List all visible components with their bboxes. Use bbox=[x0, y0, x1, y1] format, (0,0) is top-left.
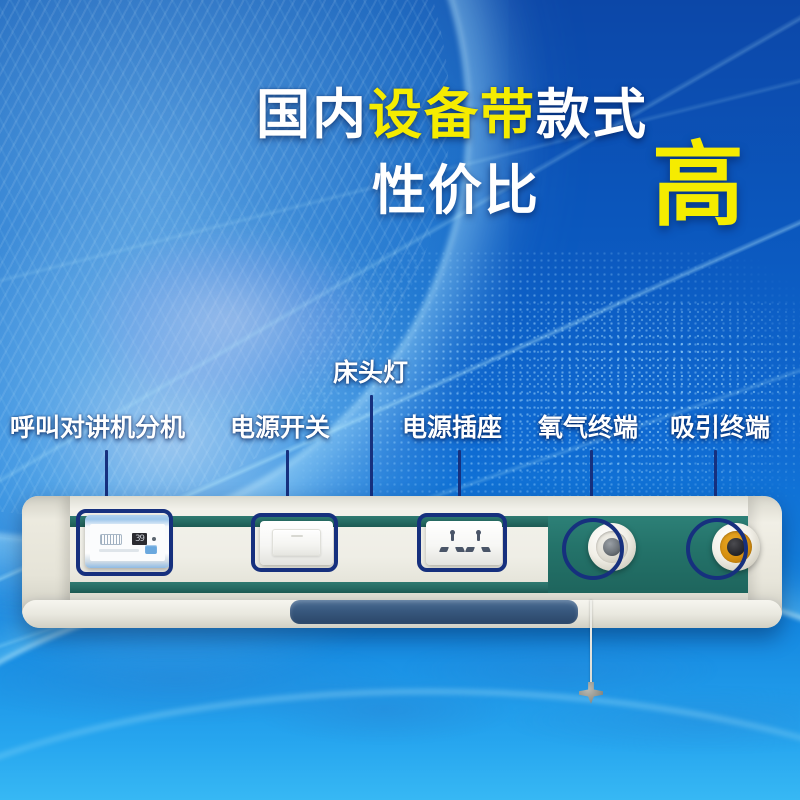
callout-label-oxygen: 氧气终端 bbox=[538, 415, 638, 440]
highlight-circle-suction bbox=[686, 518, 748, 580]
callout-label-power-socket: 电源插座 bbox=[402, 415, 502, 440]
headline-block: 国内设备带款式 性价比 高 bbox=[0, 0, 800, 260]
callout-label-suction: 吸引终端 bbox=[670, 415, 770, 440]
highlight-box-power-socket bbox=[417, 513, 507, 572]
callout-label-power-switch: 电源开关 bbox=[230, 415, 330, 440]
headline-part-2: 设备带 bbox=[368, 83, 536, 146]
headline-emphasis-word: 高 bbox=[652, 140, 744, 232]
callout-label-bed-lamp: 床头灯 bbox=[333, 360, 408, 385]
highlight-box-intercom bbox=[76, 509, 173, 576]
highlight-circle-oxygen bbox=[562, 518, 624, 580]
headline-part-3: 款式 bbox=[536, 83, 648, 146]
headline-line-1: 国内设备带款式 bbox=[256, 88, 648, 142]
pull-cord[interactable] bbox=[590, 600, 592, 688]
highlight-box-power-switch bbox=[251, 513, 338, 572]
callout-label-intercom: 呼叫对讲机分机 bbox=[10, 415, 185, 440]
promo-banner: 国内设备带款式 性价比 高 呼叫对讲机分机 电源开关 床头灯 电源插座 氧气终端… bbox=[0, 0, 800, 800]
headline-line-2: 性价比 bbox=[372, 164, 540, 218]
headline-part-1: 国内 bbox=[256, 83, 368, 146]
bed-lamp-diffuser[interactable] bbox=[290, 600, 578, 624]
